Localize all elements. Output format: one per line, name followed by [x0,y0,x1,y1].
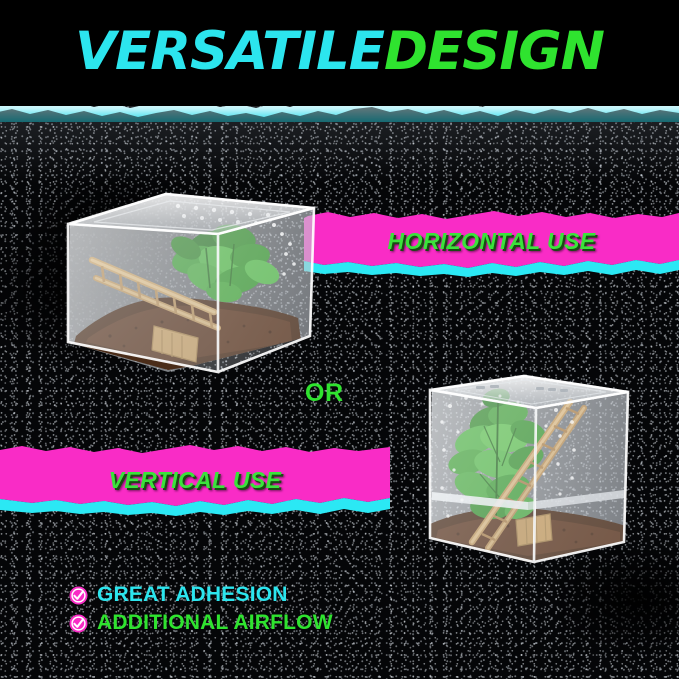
infographic-page: VERSATILEDESIGN HORIZONTAL USE [0,0,679,679]
product-image-horizontal-terrarium [58,186,326,381]
product-image-vertical-terrarium [424,366,635,581]
check-circle-icon [68,613,89,634]
or-divider-label: OR [305,379,344,408]
title-word-design: DESIGN [384,21,604,82]
page-title: VERSATILEDESIGN [0,22,679,82]
banner-vertical-use-label: VERTICAL USE [0,467,390,494]
title-word-versatile: VERSATILE [75,21,384,82]
header-bar: VERSATILEDESIGN [0,0,679,106]
feature-item-additional-airflow: ADDITIONAL AIRFLOW [68,610,333,636]
feature-item-great-adhesion: GREAT ADHESION [68,582,333,608]
check-circle-icon [68,585,89,606]
banner-horizontal-use: HORIZONTAL USE [304,204,679,282]
feature-label: GREAT ADHESION [97,583,288,607]
banner-vertical-use: VERTICAL USE [0,440,390,520]
banner-horizontal-use-label: HORIZONTAL USE [304,228,679,255]
feature-label: ADDITIONAL AIRFLOW [97,611,333,635]
feature-list: GREAT ADHESION ADDITIONAL AIRFLOW [68,582,333,638]
